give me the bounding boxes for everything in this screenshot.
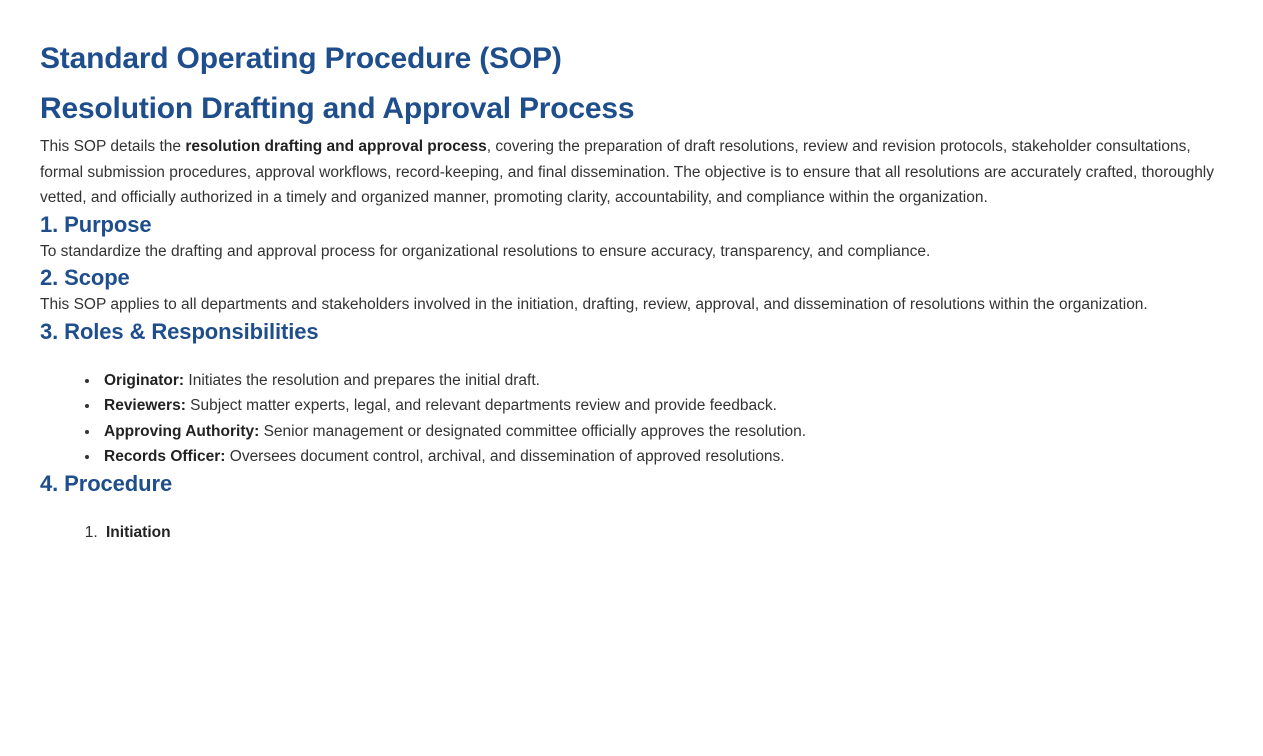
list-item-term: Approving Authority:: [104, 423, 259, 440]
intro-paragraph: This SOP details the resolution drafting…: [40, 134, 1223, 211]
procedure-list: Initiation: [40, 520, 1223, 546]
list-item-description: Initiates the resolution and prepares th…: [184, 372, 540, 389]
section-heading-scope: 2. Scope: [40, 264, 1223, 292]
document-page: Standard Operating Procedure (SOP) Resol…: [0, 0, 1263, 545]
page-title: Standard Operating Procedure (SOP) Resol…: [40, 34, 1223, 134]
section-body-purpose: To standardize the drafting and approval…: [40, 239, 1223, 265]
section-heading-purpose: 1. Purpose: [40, 211, 1223, 239]
intro-bold-phrase: resolution drafting and approval process: [185, 138, 486, 155]
section-body-scope: This SOP applies to all departments and …: [40, 292, 1223, 318]
list-item-description: Senior management or designated committe…: [259, 423, 806, 440]
list-item-term: Reviewers:: [104, 397, 186, 414]
list-item-term: Originator:: [104, 372, 184, 389]
section-heading-procedure: 4. Procedure: [40, 470, 1223, 498]
list-item: Records Officer: Oversees document contr…: [100, 444, 1223, 470]
list-item-term: Records Officer:: [104, 448, 225, 465]
page-title-line-1: Standard Operating Procedure (SOP): [40, 34, 1223, 84]
list-item: Initiation: [102, 520, 1223, 546]
section-heading-roles-responsibilities: 3. Roles & Responsibilities: [40, 318, 1223, 346]
list-item: Originator: Initiates the resolution and…: [100, 368, 1223, 394]
list-item-term: Initiation: [106, 524, 171, 541]
list-item-description: Oversees document control, archival, and…: [225, 448, 784, 465]
list-item-description: Subject matter experts, legal, and relev…: [186, 397, 777, 414]
list-item: Reviewers: Subject matter experts, legal…: [100, 393, 1223, 419]
list-item: Approving Authority: Senior management o…: [100, 419, 1223, 445]
page-title-line-2: Resolution Drafting and Approval Process: [40, 84, 1223, 134]
roles-responsibilities-list: Originator: Initiates the resolution and…: [40, 368, 1223, 470]
intro-text-before-bold: This SOP details the: [40, 138, 185, 155]
